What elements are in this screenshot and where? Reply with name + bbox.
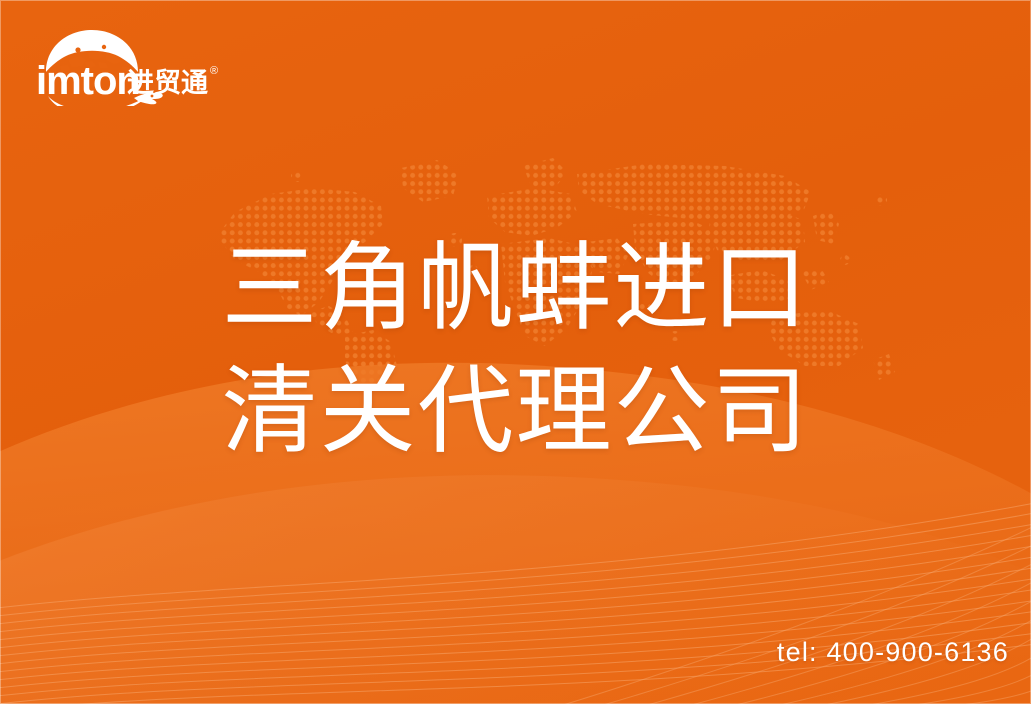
telephone-number[interactable]: tel: 400-900-6136	[777, 637, 1009, 668]
promotional-banner: imton 进贸通 ® 三角帆蚌进口 清关代理公司 tel: 400-900-6…	[0, 0, 1031, 704]
headline-line-1: 三角帆蚌进口	[0, 228, 1031, 351]
logo-chinese-name: 进贸通	[127, 68, 208, 98]
logo-wordmark: imton	[36, 59, 140, 103]
registered-trademark-symbol: ®	[210, 65, 218, 77]
headline-block: 三角帆蚌进口 清关代理公司	[0, 228, 1031, 474]
headline-line-2: 清关代理公司	[0, 351, 1031, 474]
hairline-fan-pattern	[0, 474, 1031, 704]
company-logo[interactable]: imton 进贸通 ®	[34, 26, 249, 106]
